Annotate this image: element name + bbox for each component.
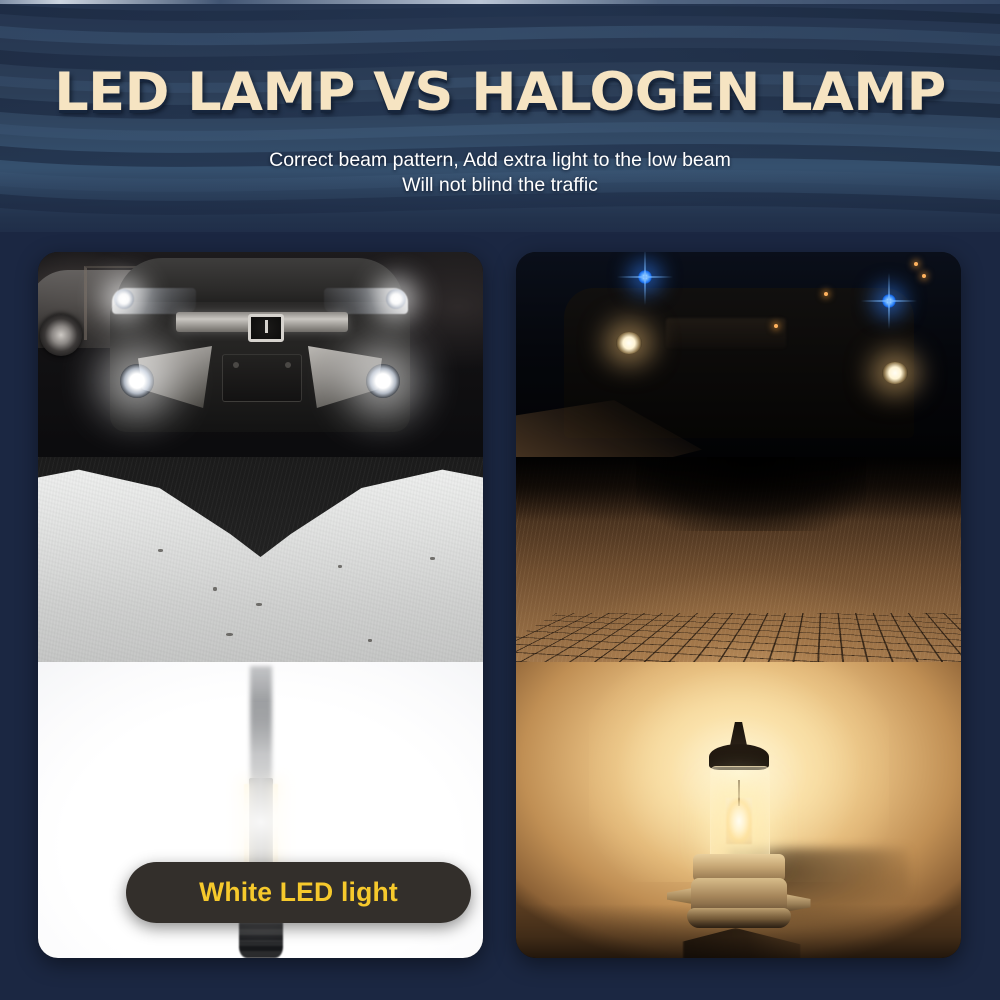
road-speck — [226, 633, 233, 636]
faint-grille — [666, 318, 786, 348]
halogen-headlight-left — [616, 332, 642, 354]
led-shaft — [250, 666, 272, 788]
blue-accent-light-right — [882, 294, 896, 308]
bulb-scene-vignette — [516, 904, 961, 958]
honda-emblem-icon — [248, 314, 284, 342]
halogen-headlight-right — [882, 362, 908, 384]
road-speck — [338, 565, 342, 568]
top-edge-highlight — [0, 0, 1000, 4]
pavement-shadow — [636, 457, 866, 531]
bulb-filament-glow — [726, 798, 752, 844]
ambient-light-dot — [824, 292, 828, 296]
comparison-infographic: LED LAMP VS HALOGEN LAMP Correct beam pa… — [0, 0, 1000, 1000]
led-badge: White LED light — [126, 862, 471, 923]
led-headlight-left — [112, 288, 196, 314]
led-chip-right — [273, 784, 278, 872]
subtitle-line-2: Will not blind the traffic — [0, 173, 1000, 198]
led-headlight-right — [324, 288, 408, 314]
ambient-light-dot — [922, 274, 926, 278]
license-plate — [222, 354, 302, 402]
led-chip-left — [244, 784, 249, 872]
halogen-beam-pattern-photo — [516, 457, 961, 672]
road-speck — [158, 549, 163, 552]
background-wheel — [40, 314, 82, 356]
road-speck — [430, 557, 435, 560]
road-speck — [368, 639, 372, 642]
road-speck — [256, 603, 262, 606]
page-title: LED LAMP VS HALOGEN LAMP — [0, 62, 1000, 123]
led-badge-label: White LED light — [199, 877, 398, 908]
fog-light-left — [120, 364, 154, 398]
ambient-light-dot — [914, 262, 918, 266]
halogen-bulb-photo — [516, 662, 961, 958]
blue-accent-light-left — [638, 270, 652, 284]
bulb-ear-left — [667, 888, 693, 904]
halogen-comparison-panel[interactable]: yellow halogen lamp — [516, 252, 961, 958]
fog-light-right — [366, 364, 400, 398]
led-beam-pattern-photo — [38, 457, 483, 672]
subtitle-line-1: Correct beam pattern, Add extra light to… — [269, 149, 731, 171]
road-speck — [213, 587, 217, 591]
led-car-night-photo — [38, 252, 483, 467]
civic-front — [110, 258, 410, 438]
ambient-light-dot — [774, 324, 778, 328]
page-subtitle: Correct beam pattern, Add extra light to… — [0, 148, 1000, 198]
led-comparison-panel[interactable]: White LED light — [38, 252, 483, 958]
halogen-car-night-photo — [516, 252, 961, 467]
